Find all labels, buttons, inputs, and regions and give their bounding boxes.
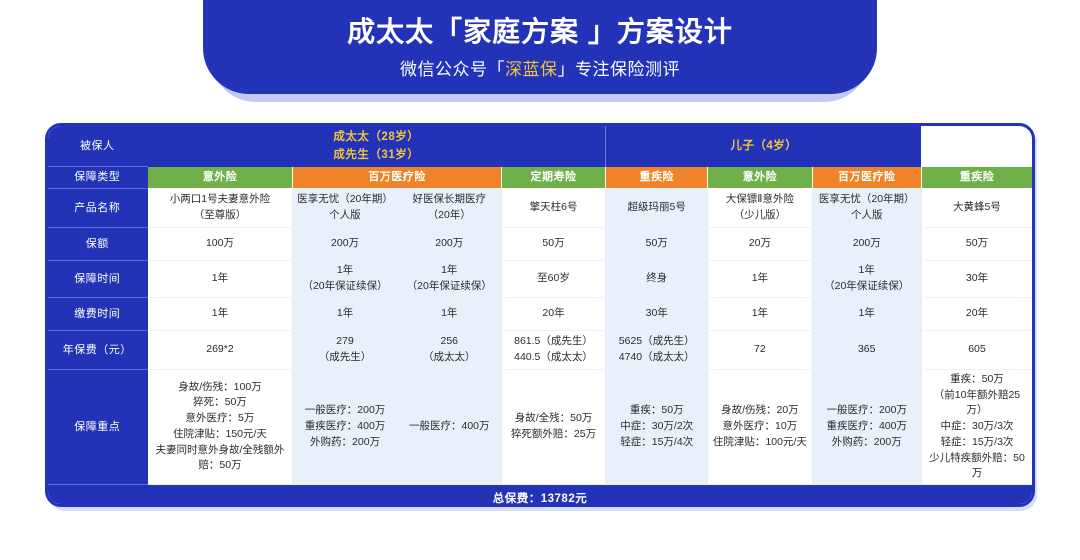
category-header: 百万医疗险 xyxy=(293,167,501,189)
premium-cell: 861.5（成先生） 440.5（成太太） xyxy=(501,330,605,369)
table-row: 保额100万200万200万50万50万20万200万50万 xyxy=(48,227,1032,260)
amount-cell: 20万 xyxy=(708,227,812,260)
banner-body: 成太太「家庭方案 」方案设计 微信公众号「深蓝保」专注保险测评 xyxy=(203,0,877,94)
term-cell: 1年 （20年保证续保） xyxy=(397,260,501,297)
premium-cell: 279 （成先生） xyxy=(293,330,397,369)
amount-cell: 200万 xyxy=(812,227,921,260)
premium-cell: 605 xyxy=(921,330,1032,369)
amount-cell: 50万 xyxy=(501,227,605,260)
plan-table: 被保人成太太（28岁） 成先生（31岁）儿子（4岁）保障类型意外险百万医疗险定期… xyxy=(48,126,1032,507)
term-cell: 1年 xyxy=(708,260,812,297)
payment-cell: 1年 xyxy=(708,297,812,330)
highlight-cell: 一般医疗：200万 重疾医疗：400万 外购药：200万 xyxy=(293,369,397,484)
category-header: 重疾险 xyxy=(606,167,708,189)
table-row: 保障时间1年1年 （20年保证续保）1年 （20年保证续保）至60岁终身1年1年… xyxy=(48,260,1032,297)
highlight-cell: 重疾：50万 中症：30万/2次 轻症：15万/4次 xyxy=(606,369,708,484)
table-row: 年保费（元）269*2279 （成先生）256 （成太太）861.5（成先生） … xyxy=(48,330,1032,369)
payment-cell: 1年 xyxy=(812,297,921,330)
product-cell: 擎天柱6号 xyxy=(501,188,605,227)
row-label-highlights: 保障重点 xyxy=(48,369,147,484)
total-row: 总保费：13782元 xyxy=(48,485,1032,507)
amount-cell: 200万 xyxy=(293,227,397,260)
category-header: 百万医疗险 xyxy=(812,167,921,189)
product-cell: 超级玛丽5号 xyxy=(606,188,708,227)
highlight-cell: 重疾：50万 （前10年额外赔25万） 中症：30万/3次 轻症：15万/3次 … xyxy=(921,369,1032,484)
category-header: 意外险 xyxy=(147,167,293,189)
term-cell: 1年 xyxy=(147,260,293,297)
table-row: 缴费时间1年1年1年20年30年1年1年20年 xyxy=(48,297,1032,330)
table-row: 保障类型意外险百万医疗险定期寿险重疾险意外险百万医疗险重疾险 xyxy=(48,167,1032,189)
term-cell: 至60岁 xyxy=(501,260,605,297)
person-header: 成太太（28岁） 成先生（31岁） xyxy=(147,126,606,167)
plan-table-body: 被保人成太太（28岁） 成先生（31岁）儿子（4岁）保障类型意外险百万医疗险定期… xyxy=(48,126,1032,507)
payment-cell: 1年 xyxy=(397,297,501,330)
highlight-cell: 身故/伤残：20万 意外医疗：10万 住院津贴：100元/天 xyxy=(708,369,812,484)
banner-subtitle: 微信公众号「深蓝保」专注保险测评 xyxy=(400,55,680,80)
premium-cell: 5625（成先生） 4740（成太太） xyxy=(606,330,708,369)
row-label-premium: 年保费（元） xyxy=(48,330,147,369)
brand-name: 深蓝保 xyxy=(505,60,558,79)
category-header: 重疾险 xyxy=(921,167,1032,189)
payment-cell: 30年 xyxy=(606,297,708,330)
total-premium: 总保费：13782元 xyxy=(48,485,1032,507)
product-cell: 医享无忧（20年期） 个人版 xyxy=(293,188,397,227)
subtitle-suffix: 」专注保险测评 xyxy=(558,60,681,79)
subtitle-prefix: 微信公众号「 xyxy=(400,60,505,79)
term-cell: 终身 xyxy=(606,260,708,297)
header-banner: 成太太「家庭方案 」方案设计 微信公众号「深蓝保」专注保险测评 xyxy=(0,0,1080,110)
highlight-cell: 一般医疗：200万 重疾医疗：400万 外购药：200万 xyxy=(812,369,921,484)
row-label-term: 保障时间 xyxy=(48,260,147,297)
page-title: 成太太「家庭方案 」方案设计 xyxy=(347,14,733,49)
premium-cell: 72 xyxy=(708,330,812,369)
term-cell: 1年 （20年保证续保） xyxy=(812,260,921,297)
table-row: 保障重点身故/伤残：100万 猝死：50万 意外医疗：5万 住院津贴：150元/… xyxy=(48,369,1032,484)
product-cell: 医享无忧（20年期） 个人版 xyxy=(812,188,921,227)
term-cell: 30年 xyxy=(921,260,1032,297)
product-cell: 大保镖Ⅱ意外险 （少儿版） xyxy=(708,188,812,227)
category-header: 定期寿险 xyxy=(501,167,605,189)
product-cell: 好医保长期医疗 （20年） xyxy=(397,188,501,227)
row-label-payment: 缴费时间 xyxy=(48,297,147,330)
term-cell: 1年 （20年保证续保） xyxy=(293,260,397,297)
amount-cell: 200万 xyxy=(397,227,501,260)
plan-table-frame: 被保人成太太（28岁） 成先生（31岁）儿子（4岁）保障类型意外险百万医疗险定期… xyxy=(45,123,1035,507)
person-header: 儿子（4岁） xyxy=(606,126,922,167)
amount-cell: 50万 xyxy=(921,227,1032,260)
payment-cell: 1年 xyxy=(147,297,293,330)
amount-cell: 100万 xyxy=(147,227,293,260)
table-row: 被保人成太太（28岁） 成先生（31岁）儿子（4岁） xyxy=(48,126,1032,167)
category-header: 意外险 xyxy=(708,167,812,189)
table-row: 产品名称小两口1号夫妻意外险 （至尊版）医享无忧（20年期） 个人版好医保长期医… xyxy=(48,188,1032,227)
row-label-amount: 保额 xyxy=(48,227,147,260)
premium-cell: 365 xyxy=(812,330,921,369)
highlight-cell: 身故/全残：50万 猝死额外赔：25万 xyxy=(501,369,605,484)
product-cell: 大黄蜂5号 xyxy=(921,188,1032,227)
payment-cell: 1年 xyxy=(293,297,397,330)
product-cell: 小两口1号夫妻意外险 （至尊版） xyxy=(147,188,293,227)
row-label-product: 产品名称 xyxy=(48,188,147,227)
premium-cell: 269*2 xyxy=(147,330,293,369)
payment-cell: 20年 xyxy=(921,297,1032,330)
premium-cell: 256 （成太太） xyxy=(397,330,501,369)
highlight-cell: 身故/伤残：100万 猝死：50万 意外医疗：5万 住院津贴：150元/天 夫妻… xyxy=(147,369,293,484)
amount-cell: 50万 xyxy=(606,227,708,260)
row-label-category: 保障类型 xyxy=(48,167,147,189)
highlight-cell: 一般医疗：400万 xyxy=(397,369,501,484)
row-label-insured: 被保人 xyxy=(48,126,147,167)
payment-cell: 20年 xyxy=(501,297,605,330)
